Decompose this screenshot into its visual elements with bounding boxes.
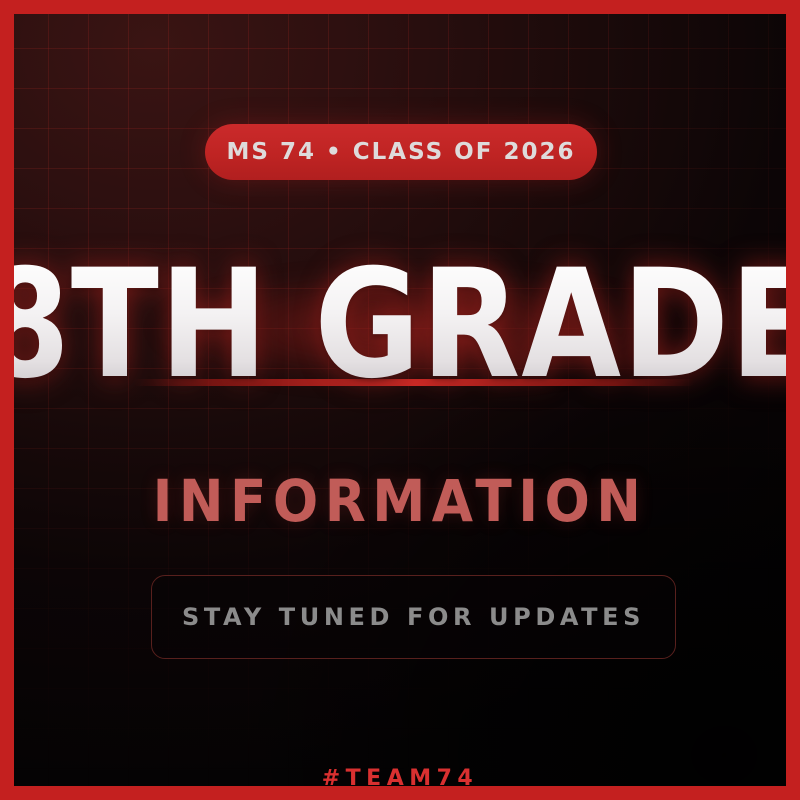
status-box-label: STAY TUNED FOR UPDATES	[182, 603, 645, 631]
class-badge: MS 74 • CLASS OF 2026	[205, 124, 597, 180]
headline-block: 8TH GRADE	[14, 257, 786, 392]
class-badge-label: MS 74 • CLASS OF 2026	[227, 139, 576, 165]
footer-hashtag: #TEAM74	[14, 766, 786, 791]
poster-content: MS 74 • CLASS OF 2026 8TH GRADE INFORMAT…	[14, 14, 786, 786]
status-box: STAY TUNED FOR UPDATES	[151, 575, 676, 659]
poster-canvas: MS 74 • CLASS OF 2026 8TH GRADE INFORMAT…	[0, 0, 800, 800]
page-subtitle: INFORMATION	[45, 472, 755, 530]
page-title: 8TH GRADE	[0, 250, 800, 400]
